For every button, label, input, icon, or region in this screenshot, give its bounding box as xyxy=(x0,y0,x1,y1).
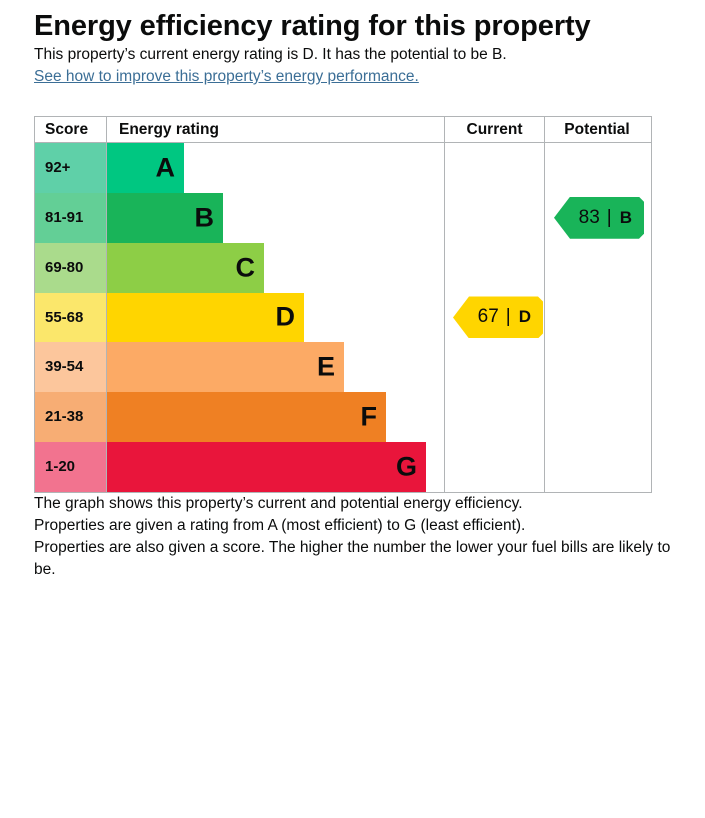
current-score: 67 xyxy=(478,306,499,328)
band-letter-d: D xyxy=(276,304,296,331)
table-row: 55-68 D xyxy=(35,293,651,343)
band-bar-b: B xyxy=(106,193,223,243)
header-current: Current xyxy=(444,117,544,142)
band-bar-c: C xyxy=(106,243,264,293)
band-letter-a: A xyxy=(156,154,176,181)
footnote-rating-scale: Properties are given a rating from A (mo… xyxy=(34,515,674,537)
potential-rating-cell: 83 | B xyxy=(545,197,650,239)
potential-separator: | xyxy=(607,207,612,229)
band-letter-c: C xyxy=(236,254,256,281)
band-letter-f: F xyxy=(361,404,378,431)
improve-energy-performance-link[interactable]: See how to improve this property’s energ… xyxy=(34,68,419,85)
header-score: Score xyxy=(35,117,106,142)
band-score-a: 92+ xyxy=(35,143,106,193)
page-title: Energy efficiency rating for this proper… xyxy=(34,8,674,44)
table-row: 21-38 F xyxy=(35,392,651,442)
band-bar-a: A xyxy=(106,143,184,193)
header-potential: Potential xyxy=(544,117,649,142)
band-bar-wrap-c: C xyxy=(106,243,651,293)
column-divider-potential xyxy=(544,143,545,492)
current-rating-badge: 67 | D xyxy=(453,296,543,338)
band-bar-wrap-a: A xyxy=(106,143,651,193)
table-row: 39-54 E xyxy=(35,342,651,392)
table-body: 92+ A 81-91 B 69-80 xyxy=(35,143,651,492)
band-bar-d: D xyxy=(106,293,304,343)
band-score-f: 21-38 xyxy=(35,392,106,442)
band-bar-wrap-d: D xyxy=(106,293,651,343)
band-letter-g: G xyxy=(396,453,417,480)
band-score-c: 69-80 xyxy=(35,243,106,293)
band-letter-e: E xyxy=(317,354,335,381)
band-letter-b: B xyxy=(195,204,215,231)
band-score-g: 1-20 xyxy=(35,442,106,492)
band-bar-g: G xyxy=(106,442,426,492)
table-row: 92+ A xyxy=(35,143,651,193)
improve-link-paragraph: See how to improve this property’s energ… xyxy=(34,66,674,88)
band-bar-f: F xyxy=(106,392,386,442)
band-score-e: 39-54 xyxy=(35,342,106,392)
potential-rating-badge: 83 | B xyxy=(554,197,644,239)
band-bar-e: E xyxy=(106,342,344,392)
potential-band-letter: B xyxy=(620,208,632,228)
current-separator: | xyxy=(506,306,511,328)
band-bar-wrap-g: G xyxy=(106,442,651,492)
footnote-score-meaning: Properties are also given a score. The h… xyxy=(34,537,674,581)
band-score-d: 55-68 xyxy=(35,293,106,343)
band-score-b: 81-91 xyxy=(35,193,106,243)
summary-paragraph: This property’s current energy rating is… xyxy=(34,44,674,66)
current-rating-cell: 67 | D xyxy=(445,296,544,338)
current-band-letter: D xyxy=(519,307,531,327)
table-row: 69-80 C xyxy=(35,243,651,293)
header-energy-rating: Energy rating xyxy=(106,117,444,142)
potential-score: 83 xyxy=(579,207,600,229)
energy-rating-graph: Score Energy rating Current Potential 92… xyxy=(34,116,652,493)
footnote-graph: The graph shows this property’s current … xyxy=(34,493,674,515)
band-bar-wrap-e: E xyxy=(106,342,651,392)
epc-page: Energy efficiency rating for this proper… xyxy=(34,0,674,581)
band-bar-wrap-f: F xyxy=(106,392,651,442)
table-row: 1-20 G xyxy=(35,442,651,492)
column-divider-rating xyxy=(106,143,107,492)
table-header-row: Score Energy rating Current Potential xyxy=(35,117,651,143)
